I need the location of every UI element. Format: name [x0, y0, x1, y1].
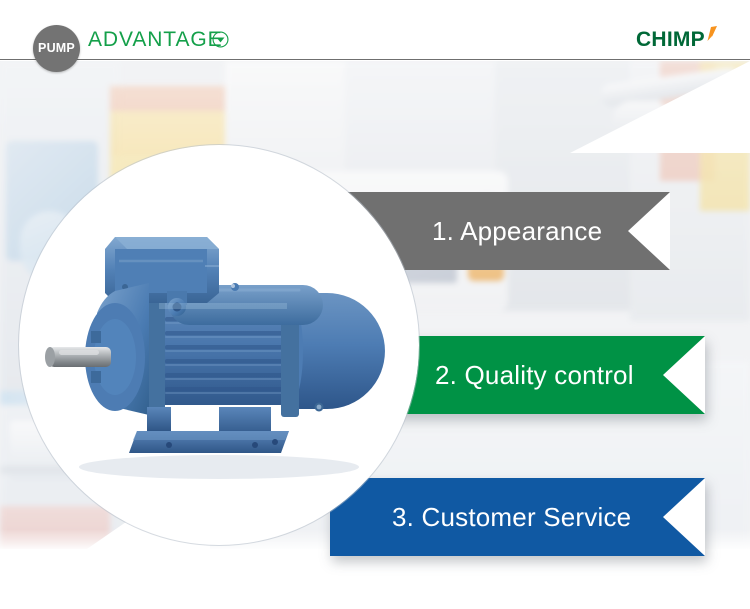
pump-badge: PUMP	[33, 25, 80, 72]
chimp-logo-text: CHIMP	[636, 28, 705, 51]
advantage-banner-page: PUMP ADVANTAGE CHIMP 1. Appearance 2. Qu…	[0, 0, 750, 609]
header-divider	[0, 59, 750, 60]
banner-notch	[663, 478, 705, 556]
banner-notch	[663, 336, 705, 414]
chimp-logo: CHIMP	[636, 24, 744, 54]
orange-flame-icon	[708, 26, 718, 41]
check-circle-icon	[212, 31, 229, 48]
banner-notch	[628, 192, 670, 270]
page-title: ADVANTAGE	[88, 28, 223, 52]
product-motor-image	[19, 145, 419, 545]
page-bottom-white-area	[0, 549, 750, 609]
pump-badge-label: PUMP	[38, 42, 75, 55]
